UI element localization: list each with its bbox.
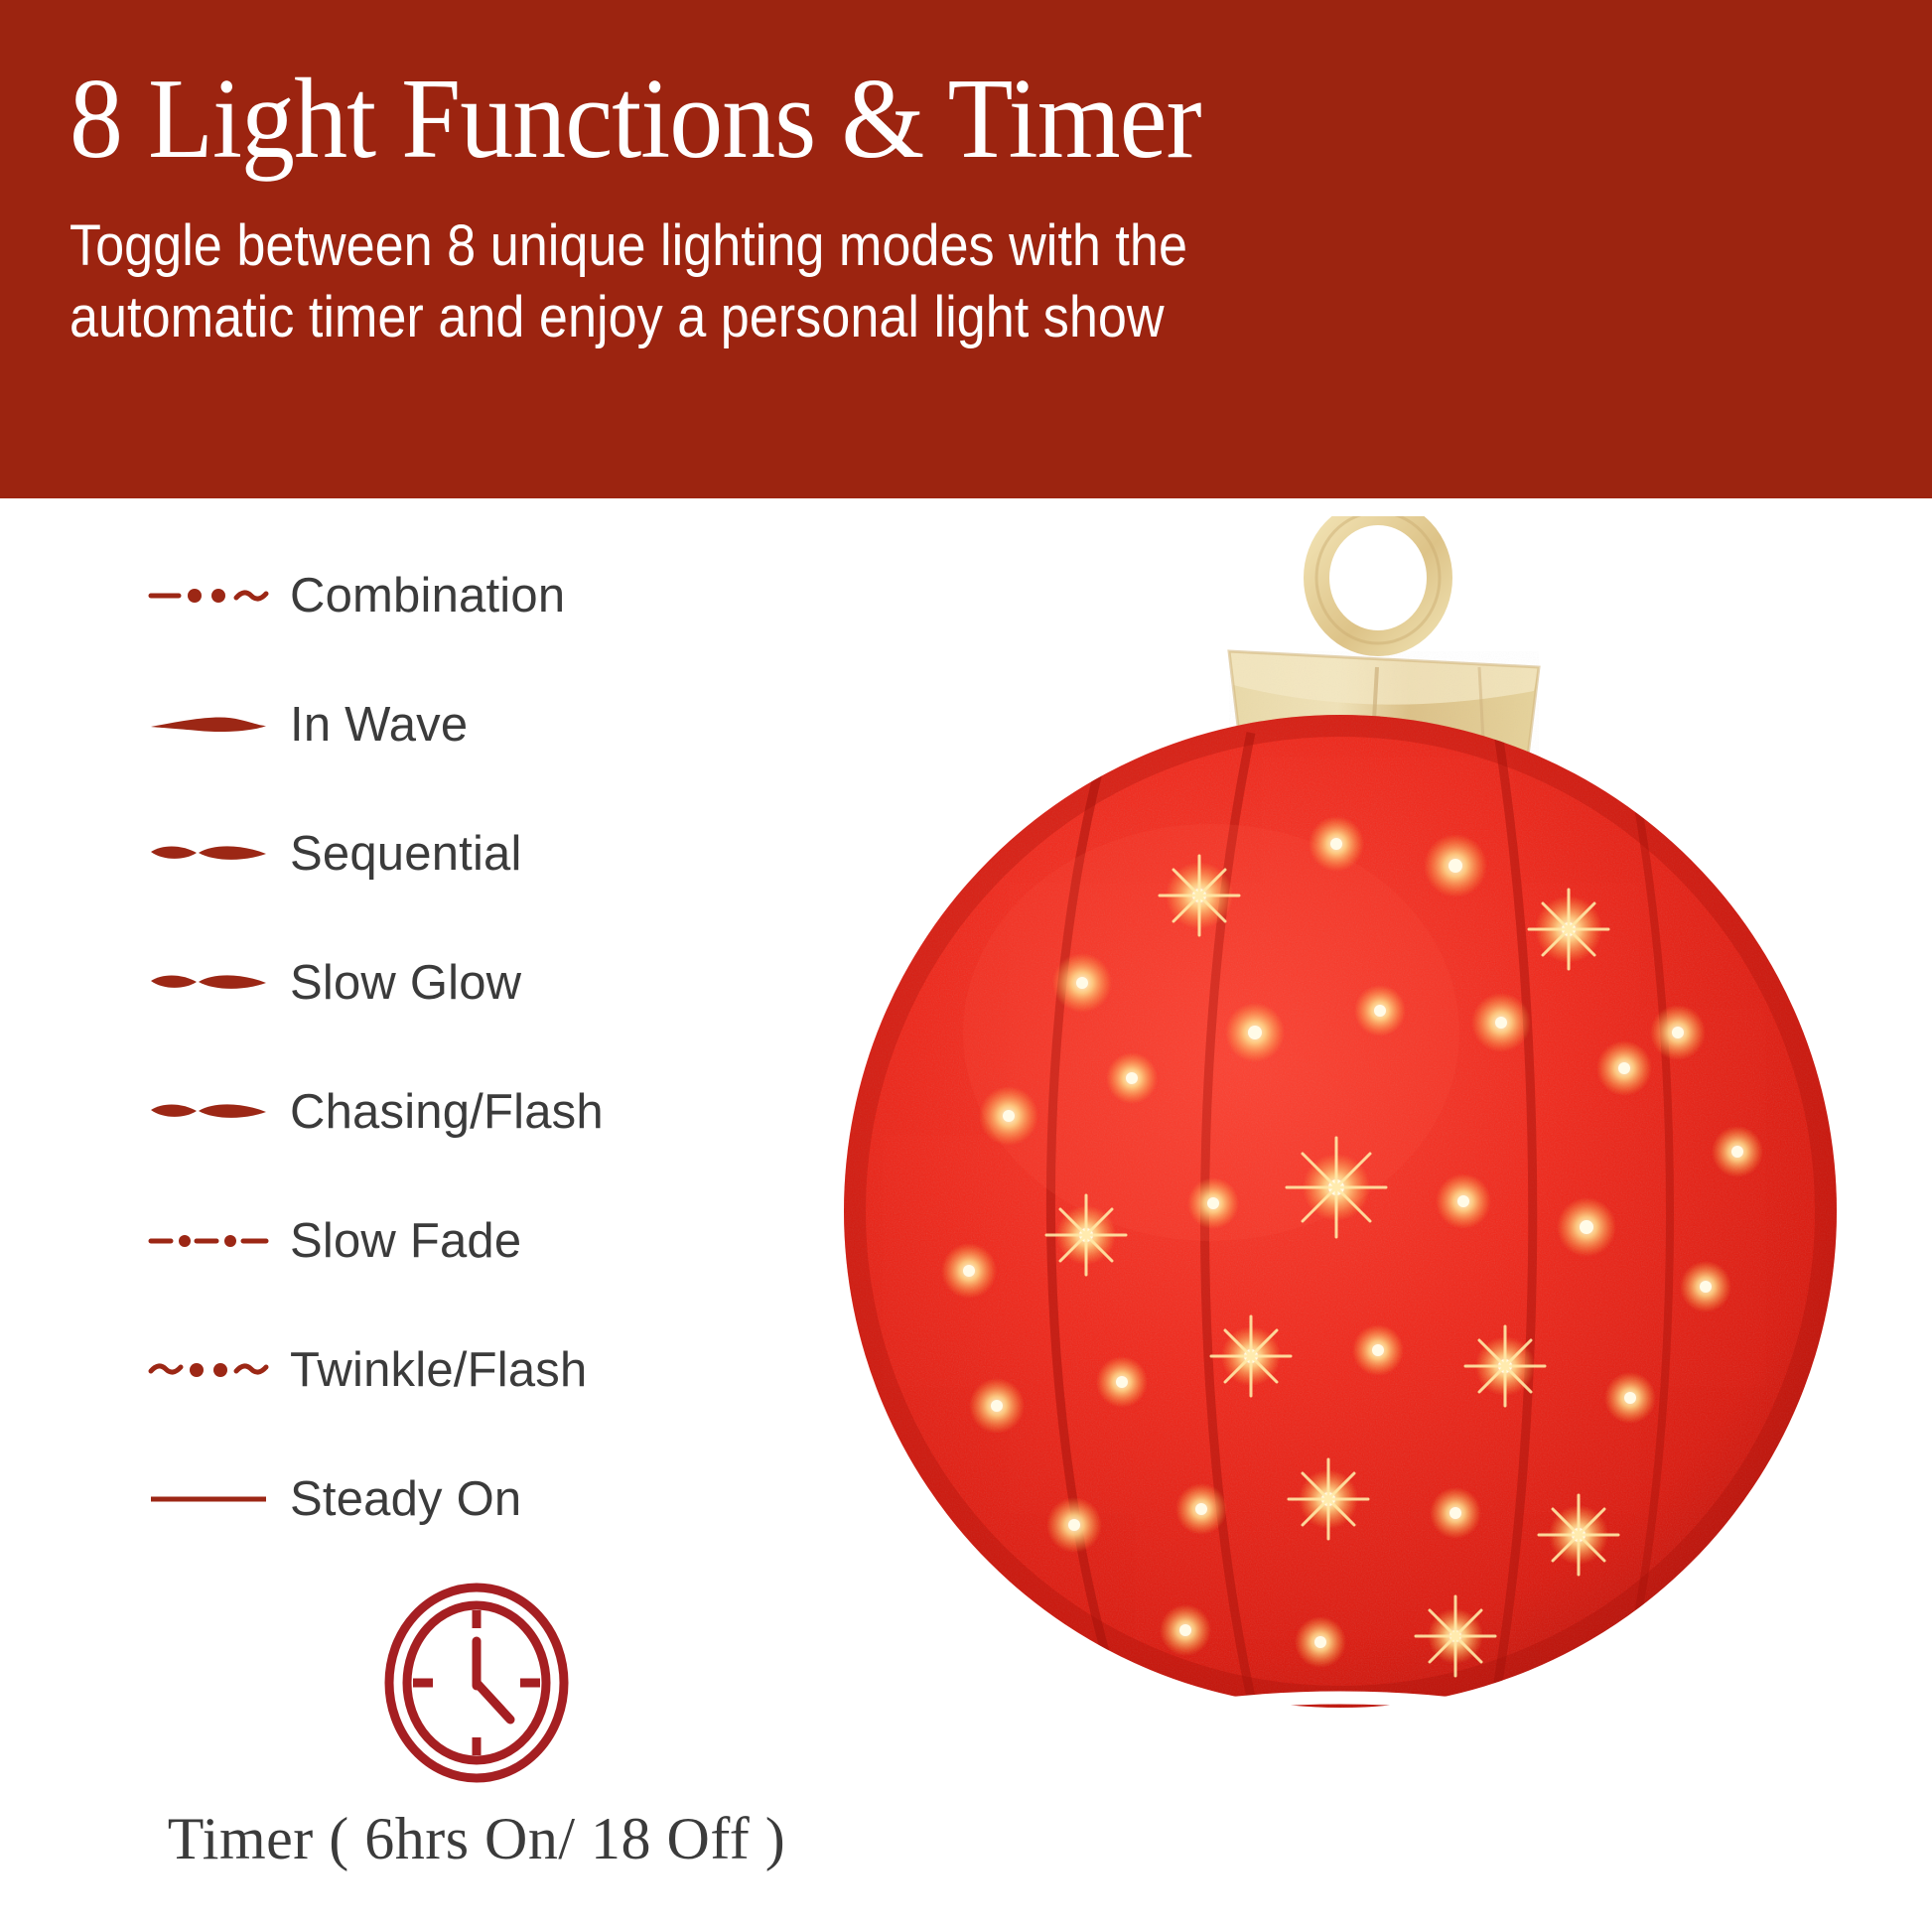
legend-item-steady-on: Steady On [149,1435,784,1564]
legend-item-slow-fade: Slow Fade [149,1176,784,1306]
subtitle-line-1: Toggle between 8 unique lighting modes w… [69,210,1320,282]
legend-label: Steady On [290,1471,521,1527]
legend-label: Slow Glow [290,955,521,1011]
legend-item-combination: Combination [149,531,784,660]
timer-caption: Timer ( 6hrs On/ 18 Off ) [149,1805,804,1873]
legend-label: Slow Fade [290,1213,521,1269]
light-function-legend: Combination In Wave Sequential [149,531,784,1564]
ornament-product-image [784,516,1896,1932]
clock-icon [149,1579,804,1787]
ornament-ring [1316,516,1440,643]
header-banner: 8 Light Functions & Timer Toggle between… [0,0,1932,498]
product-feature-panel: 8 Light Functions & Timer Toggle between… [0,0,1932,1932]
double-taper-icon [149,824,268,884]
legend-label: In Wave [290,697,468,753]
dash-dot-dash-dot-dash-icon [149,1211,268,1271]
solid-line-icon [149,1469,268,1529]
legend-item-in-wave: In Wave [149,660,784,789]
dash-dot-dot-wave-icon [149,566,268,625]
ornament-ball [824,695,1857,1727]
legend-item-sequential: Sequential [149,789,784,918]
page-title: 8 Light Functions & Timer [69,62,1737,177]
legend-label: Sequential [290,826,522,882]
subtitle-line-2: automatic timer and enjoy a personal lig… [69,282,1320,353]
double-taper-icon [149,1082,268,1142]
legend-label: Chasing/Flash [290,1084,604,1140]
wave-dot-dot-wave-icon [149,1340,268,1400]
page-subtitle: Toggle between 8 unique lighting modes w… [69,210,1320,353]
legend-item-slow-glow: Slow Glow [149,918,784,1047]
taper-long-icon [149,695,268,755]
double-taper-icon [149,953,268,1013]
timer-block: Timer ( 6hrs On/ 18 Off ) [149,1579,804,1873]
legend-item-twinkle-flash: Twinkle/Flash [149,1306,784,1435]
legend-label: Twinkle/Flash [290,1342,587,1398]
legend-label: Combination [290,568,565,623]
legend-item-chasing-flash: Chasing/Flash [149,1047,784,1176]
ornament-stand [995,1688,1686,1916]
